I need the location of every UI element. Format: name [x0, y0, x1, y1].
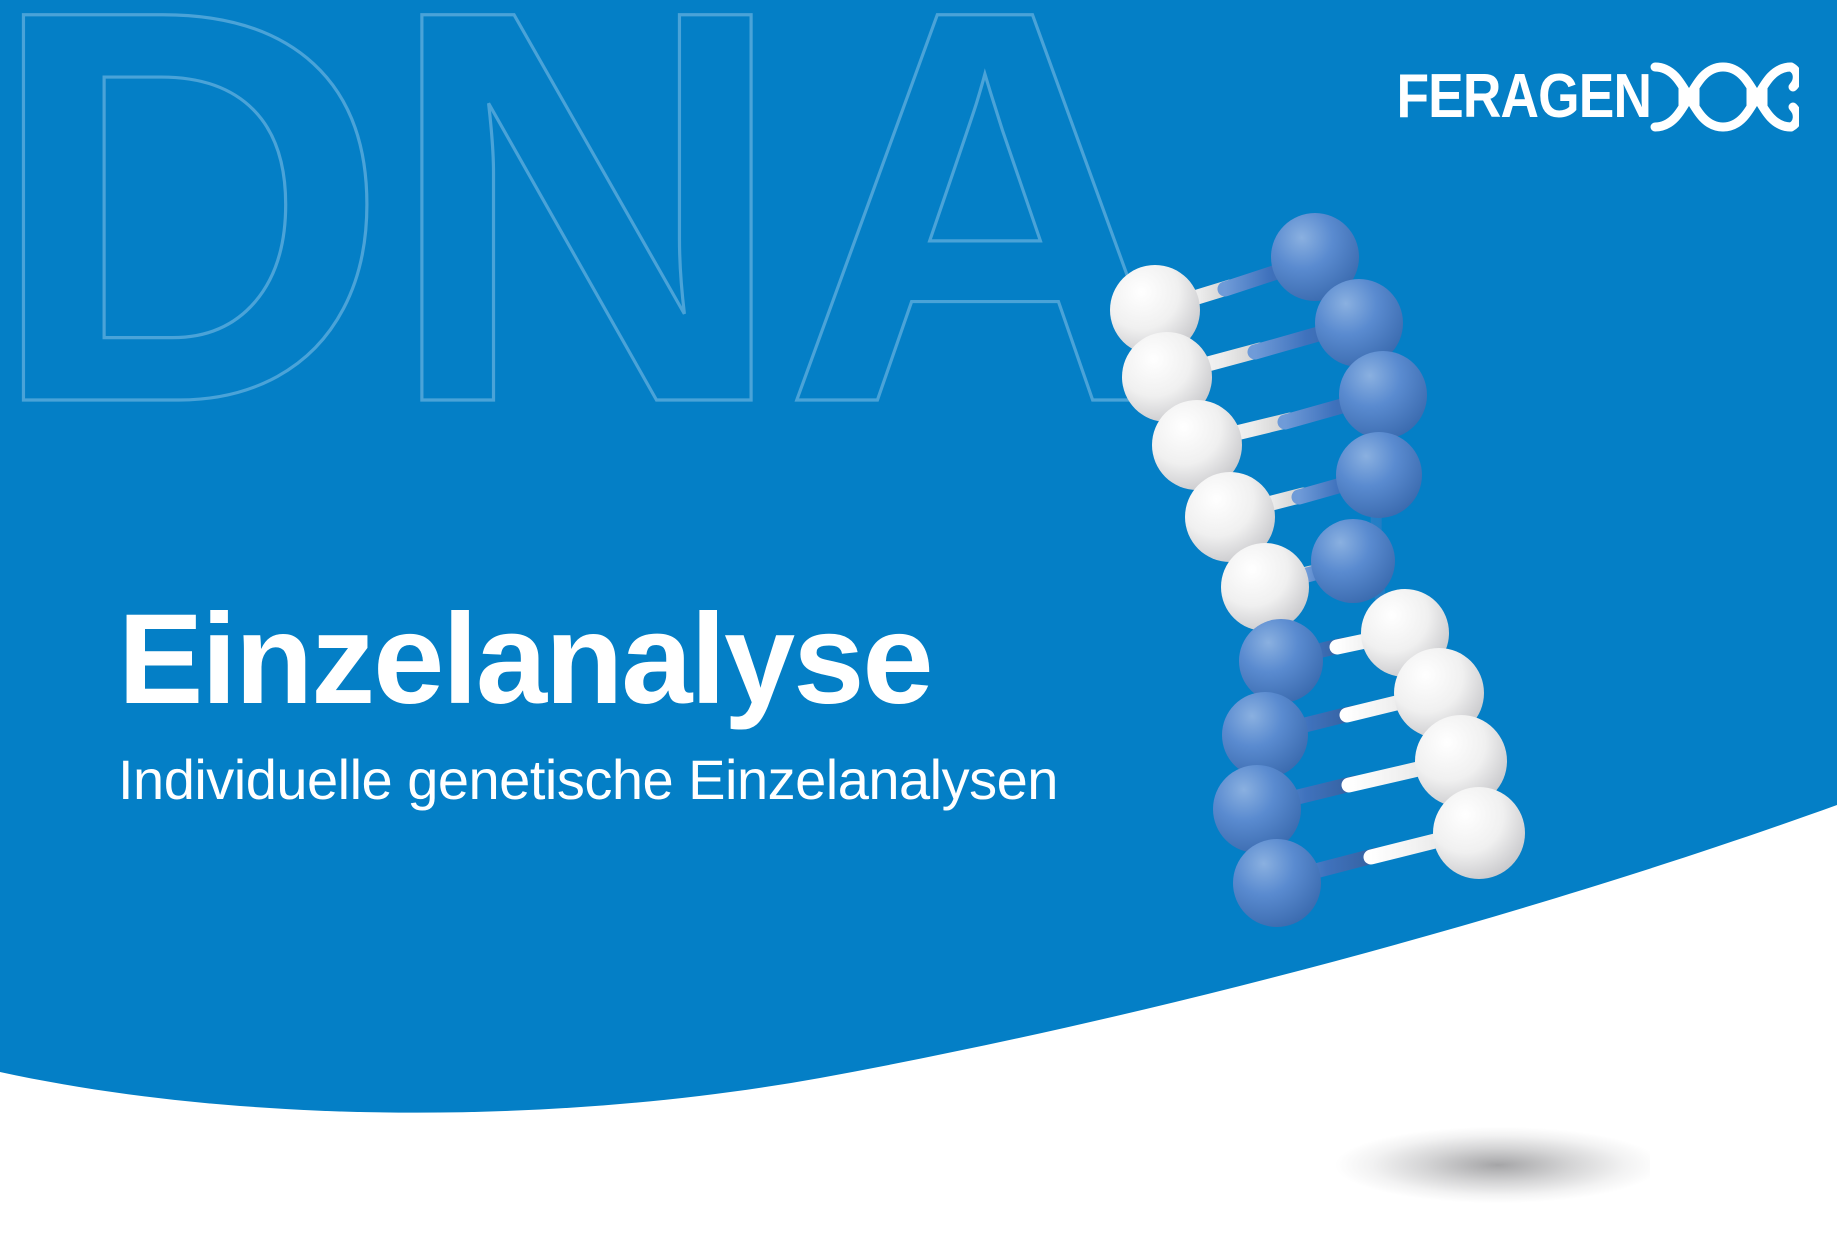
- feragen-logo[interactable]: FERAGEN: [1355, 54, 1799, 140]
- page-title: Einzelanalyse: [118, 595, 1168, 726]
- page-subtitle: Individuelle genetische Einzelanalysen: [118, 748, 1168, 812]
- headline-block: Einzelanalyse Individuelle genetische Ei…: [118, 595, 1168, 812]
- logo-wordmark: FERAGEN: [1396, 66, 1651, 128]
- dna-helix-icon: [1649, 57, 1799, 137]
- dna-double-helix-3d-model: [1085, 195, 1645, 955]
- dna-analysis-banner: DNA FERAGEN Einzelanalyse Individuelle g: [0, 0, 1837, 1252]
